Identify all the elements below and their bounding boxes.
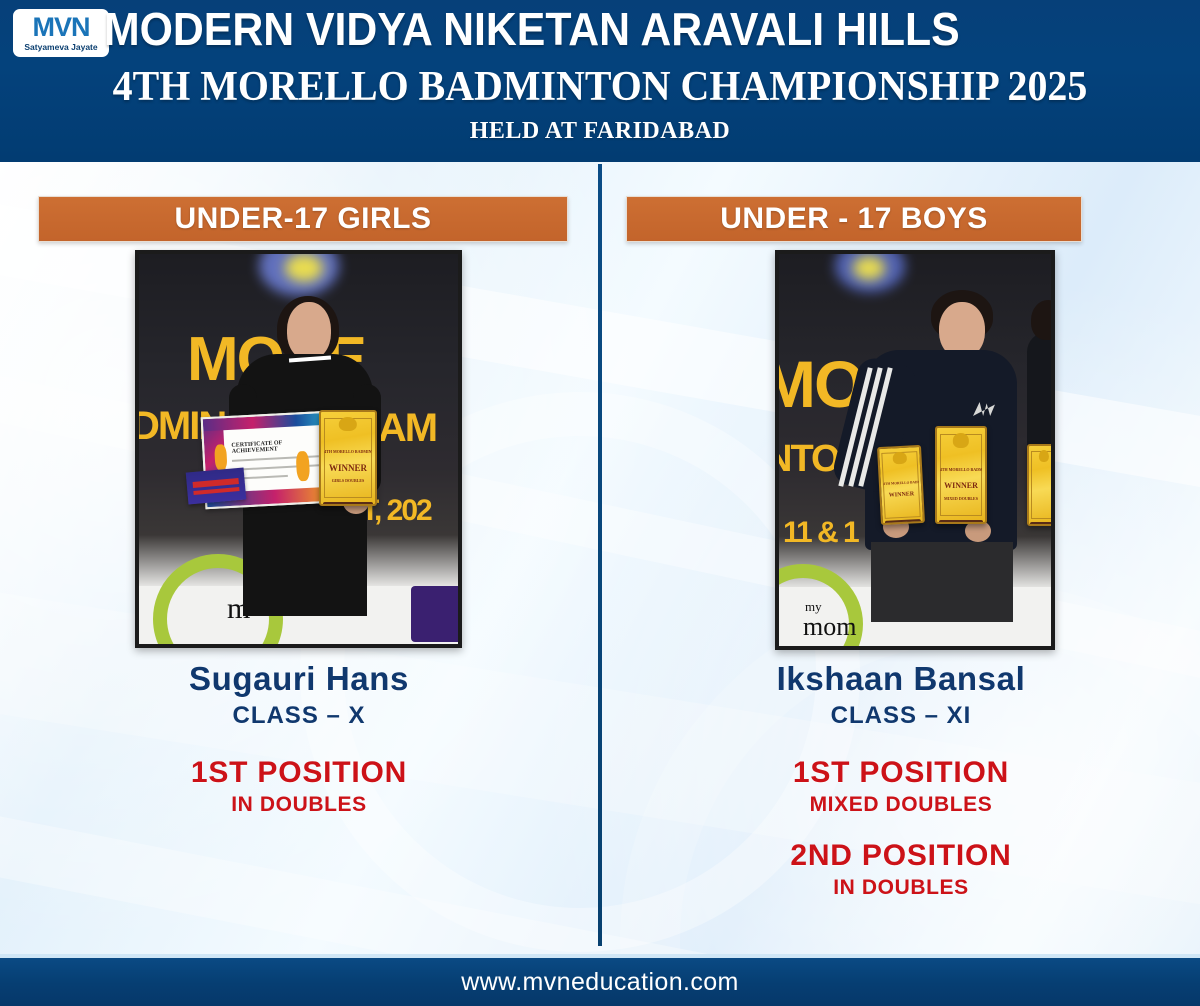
winner-class: CLASS – XI — [602, 702, 1200, 730]
trophy-label-main: WINNER — [940, 481, 982, 490]
winner-info-girls: Sugauri Hans CLASS – X 1ST POSITION IN D… — [0, 660, 598, 817]
footer-bar: www.mvneducation.com — [0, 958, 1200, 1006]
page-title: MODERN VIDYA NIKETAN ARAVALI HILLS — [104, 2, 1120, 56]
achievement-position: 1ST POSITION — [602, 756, 1200, 790]
category-banner-girls: UNDER-17 GIRLS — [38, 196, 568, 242]
photo-trophy-plaque: 4TH MORELLO BADMINTON CHAMPIONSHIP WINNE… — [319, 410, 377, 506]
column-under17-girls: UNDER-17 GIRLS MORE DMIN HAM T, 202 m — [0, 162, 598, 946]
header-bar: MVN Satyameva Jayate MODERN VIDYA NIKETA… — [0, 0, 1200, 162]
logo-tagline: Satyameva Jayate — [24, 43, 97, 52]
winner-name: Sugauri Hans — [0, 660, 598, 698]
trophy-label-sub: GIRLS DOUBLES — [324, 478, 372, 483]
winner-photo-boy: MORE NTON 11 & 1 my mom — [775, 250, 1055, 650]
category-banner-boys: UNDER - 17 BOYS — [626, 196, 1082, 242]
trophy-label-top: 4TH MORELLO BADMINTON CHAMPIONSHIP — [324, 449, 372, 454]
certificate-figure-left — [214, 445, 227, 472]
achievement-event: MIXED DOUBLES — [602, 793, 1200, 817]
photo-trophy-plaque-3 — [1027, 444, 1055, 526]
backdrop-text-dates: 11 & 1 — [783, 516, 858, 550]
photo-blue-badge — [186, 468, 247, 505]
event-subtitle: 4TH MORELLO BADMINTON CHAMPIONSHIP 2025 — [30, 62, 1170, 112]
logo-mark: MVN — [33, 14, 90, 41]
achievement-position: 2ND POSITION — [602, 839, 1200, 873]
photo-secondary-person-head — [1031, 300, 1055, 340]
achievement-item: 1ST POSITION MIXED DOUBLES — [602, 756, 1200, 817]
achievement-item: 1ST POSITION IN DOUBLES — [0, 756, 598, 817]
trophy-crest-icon — [892, 451, 906, 464]
winner-class: CLASS – X — [0, 702, 598, 730]
photo-sponsor-wordmark-line2: mom — [803, 614, 856, 640]
photo-person-legs — [243, 496, 367, 616]
achievement-position: 1ST POSITION — [0, 756, 598, 790]
certificate-title: CERTIFICATE OF ACHIEVEMENT — [231, 437, 328, 454]
photo-trophy-plaque-2: 4TH MORELLO BADMINTON CHAMPIONSHIP WINNE… — [935, 426, 987, 524]
poster-canvas: MVN Satyameva Jayate MODERN VIDYA NIKETA… — [0, 0, 1200, 1006]
trophy-crest-icon — [1039, 450, 1049, 462]
category-label: UNDER-17 GIRLS — [174, 202, 431, 236]
event-location: HELD AT FARIDABAD — [0, 118, 1200, 145]
trophy-label-top: 4TH MORELLO BADMINTON CHAMPIONSHIP — [940, 467, 982, 472]
mvn-logo-icon: MVN Satyameva Jayate — [13, 9, 109, 57]
trophy-crest-icon — [953, 433, 969, 448]
trophy-label-main: WINNER — [324, 463, 372, 473]
photo-person-head — [287, 302, 331, 360]
certificate-band-top — [203, 413, 327, 432]
photo-sponsor-purple — [411, 586, 462, 642]
category-label: UNDER - 17 BOYS — [720, 202, 988, 236]
winner-photo-girl: MORE DMIN HAM T, 202 m — [135, 250, 462, 648]
winner-name: Ikshaan Bansal — [602, 660, 1200, 698]
trophy-label-sub: MIXED DOUBLES — [940, 496, 982, 501]
trophy-base — [1030, 522, 1055, 526]
achievement-item: 2ND POSITION IN DOUBLES — [602, 839, 1200, 900]
photo-person-legs — [871, 542, 1013, 622]
website-url[interactable]: www.mvneducation.com — [461, 968, 739, 997]
photo-light-glow-2 — [285, 254, 323, 282]
trophy-crest-icon — [339, 417, 357, 432]
column-under17-boys: UNDER - 17 BOYS MORE NTON 11 & 1 my mom — [602, 162, 1200, 946]
trophy-base — [323, 502, 373, 506]
achievement-event: IN DOUBLES — [602, 876, 1200, 900]
trophy-base — [939, 520, 983, 524]
photo-light-glow-2 — [853, 256, 885, 280]
winner-info-boys: Ikshaan Bansal CLASS – XI 1ST POSITION M… — [602, 660, 1200, 900]
achievement-event: IN DOUBLES — [0, 793, 598, 817]
photo-trophy-plaque-1: 4TH MORELLO BADMINTON CHAMPIONSHIP WINNE… — [877, 445, 925, 525]
badge-stripe-2 — [193, 487, 240, 495]
